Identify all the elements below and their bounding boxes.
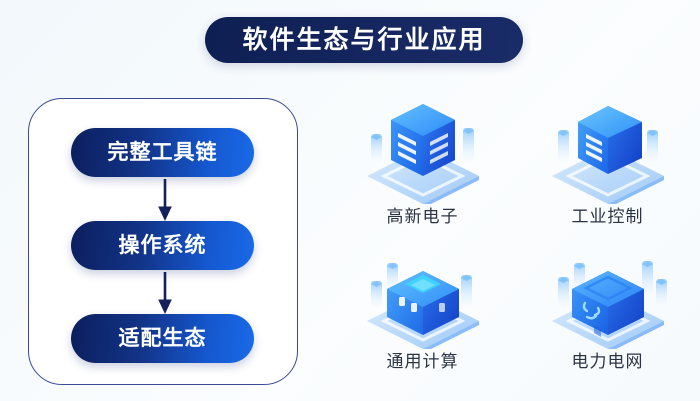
industry-application-grid: 高新电子 — [330, 100, 700, 390]
industry-item-industrial-control[interactable]: 工业控制 — [515, 100, 700, 245]
flow-step-operating-system[interactable]: 操作系统 — [71, 221, 254, 270]
page-title-pill: 软件生态与行业应用 — [205, 17, 523, 63]
industry-label: 工业控制 — [572, 208, 644, 225]
flow-step-label: 适配生态 — [119, 328, 207, 349]
industry-item-general-computing[interactable]: 通用计算 — [330, 245, 515, 390]
industry-label: 电力电网 — [572, 353, 644, 370]
industry-label: 通用计算 — [387, 353, 459, 370]
industry-label: 高新电子 — [387, 208, 459, 225]
isometric-cube-power-icon — [542, 245, 674, 349]
page-title: 软件生态与行业应用 — [242, 28, 485, 53]
flow-step-label: 操作系统 — [119, 235, 207, 256]
arrow-down-icon — [156, 272, 174, 314]
isometric-server-tower-icon — [357, 100, 489, 204]
flow-step-toolchain[interactable]: 完整工具链 — [71, 128, 254, 177]
industry-item-power-grid[interactable]: 电力电网 — [515, 245, 700, 390]
isometric-cabinet-icon — [542, 100, 674, 204]
slide-canvas: 软件生态与行业应用 完整工具链 操作系统 适配生态 — [0, 0, 700, 401]
isometric-cube-chip-icon — [357, 245, 489, 349]
arrow-down-icon — [156, 179, 174, 221]
flow-step-adaptation-ecosystem[interactable]: 适配生态 — [71, 314, 254, 363]
software-stack-flow-card: 完整工具链 操作系统 适配生态 — [28, 98, 298, 385]
flow-step-label: 完整工具链 — [108, 142, 218, 163]
industry-item-high-tech-electronics[interactable]: 高新电子 — [330, 100, 515, 245]
